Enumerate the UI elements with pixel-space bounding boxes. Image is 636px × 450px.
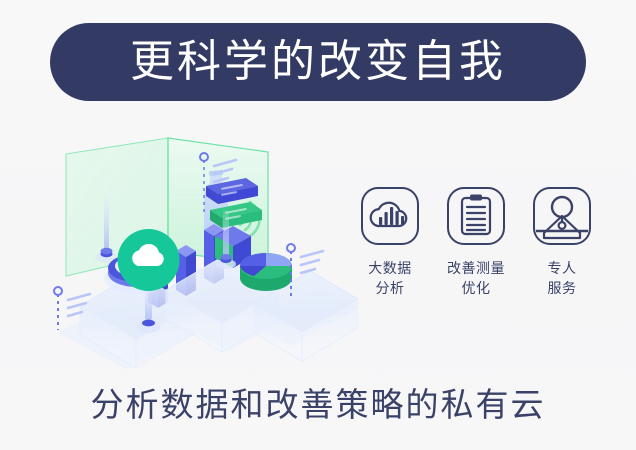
feature-item-improvement-measurement[interactable]: 改善测量 优化 xyxy=(438,186,514,300)
support-agent-icon xyxy=(532,186,592,246)
feature-label-dedicated-service: 专人 服务 xyxy=(548,259,577,300)
pie-chart-3d xyxy=(240,253,292,291)
tagline: 分析数据和改善策略的私有云 xyxy=(0,385,636,425)
feature-item-dedicated-service[interactable]: 专人 服务 xyxy=(524,186,600,300)
promo-banner-page: 更科学的改变自我 xyxy=(0,0,636,450)
feature-label-big-data-analysis: 大数据 分析 xyxy=(368,259,412,300)
isometric-illustration xyxy=(18,118,358,368)
feature-list: 大数据 分析 改善测量 优化 xyxy=(352,186,600,336)
feature-item-big-data-analysis[interactable]: 大数据 分析 xyxy=(352,186,428,300)
page-title: 更科学的改变自我 xyxy=(130,40,506,84)
title-banner: 更科学的改变自我 xyxy=(50,23,586,101)
feature-label-improvement-measurement: 改善测量 优化 xyxy=(447,259,505,300)
cloud-bar-chart-icon xyxy=(360,186,420,246)
clipboard-icon xyxy=(446,186,506,246)
